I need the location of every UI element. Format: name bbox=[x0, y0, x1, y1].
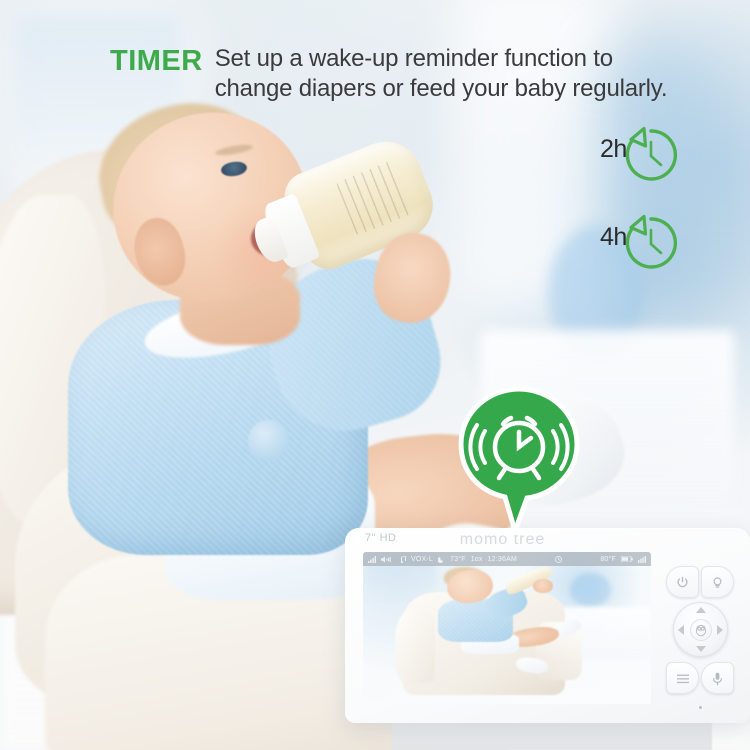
osd-vox-label: VOX-L bbox=[411, 556, 433, 563]
timer-badge-4h-label: 4h bbox=[600, 223, 627, 252]
clock-rotate-arrow-icon bbox=[620, 212, 682, 274]
osd-temp-alert-label: 73°F bbox=[450, 556, 466, 563]
monitor-live-video bbox=[363, 552, 651, 704]
arrow-right-icon[interactable] bbox=[717, 625, 723, 635]
video-teddy-bear bbox=[570, 573, 610, 606]
video-baby-hand bbox=[533, 579, 553, 593]
osd-temperature-label: 80°F bbox=[600, 556, 616, 563]
rssi-signal-bars-icon bbox=[638, 556, 646, 563]
menu-hamburger-icon bbox=[675, 671, 690, 686]
device-control-panel bbox=[666, 566, 736, 694]
headline-block: TIMER Set up a wake-up reminder function… bbox=[110, 44, 670, 104]
bubble-shape bbox=[461, 389, 577, 531]
baby-cardigan-pompom bbox=[248, 420, 289, 461]
timer-badge-2h: 2h bbox=[586, 124, 682, 186]
osd-time-label: 12:36AM bbox=[488, 556, 517, 563]
bottle-measurement-marks bbox=[336, 161, 412, 236]
signal-bars-icon bbox=[368, 556, 376, 563]
arrow-down-icon[interactable] bbox=[696, 646, 706, 652]
timer-badge-2h-label: 2h bbox=[600, 135, 627, 164]
battery-icon bbox=[621, 556, 633, 562]
brightness-icon bbox=[710, 575, 725, 590]
speaker-volume-icon bbox=[381, 556, 393, 563]
timer-duration-badges: 2h 4h bbox=[586, 124, 682, 300]
headline-body: Set up a wake-up reminder function to ch… bbox=[215, 44, 670, 104]
microphone-icon bbox=[710, 671, 725, 686]
music-note-icon bbox=[398, 556, 406, 563]
alarm-callout-bubble bbox=[455, 385, 583, 535]
timer-icon bbox=[555, 556, 562, 563]
headline-kicker: TIMER bbox=[110, 44, 203, 79]
timer-badge-4h: 4h bbox=[586, 212, 682, 274]
osd-zoom-label: 1ox bbox=[471, 556, 483, 563]
navigation-dpad[interactable] bbox=[673, 602, 728, 657]
arrow-left-icon[interactable] bbox=[678, 625, 684, 635]
monitor-screen[interactable]: VOX-L 73°F 1ox 12:36AM 80°F bbox=[363, 552, 651, 704]
baby-monitor-device: 7" HD momo tree bbox=[345, 528, 750, 723]
moon-icon bbox=[438, 556, 445, 563]
lullaby-owl-icon[interactable] bbox=[690, 619, 712, 641]
video-armchair-arm-left bbox=[395, 610, 435, 683]
clock-rotate-arrow-icon bbox=[620, 124, 682, 186]
status-led bbox=[699, 706, 702, 709]
monitor-status-bar: VOX-L 73°F 1ox 12:36AM 80°F bbox=[363, 552, 651, 566]
arrow-up-icon[interactable] bbox=[696, 607, 706, 613]
power-icon bbox=[675, 575, 690, 590]
